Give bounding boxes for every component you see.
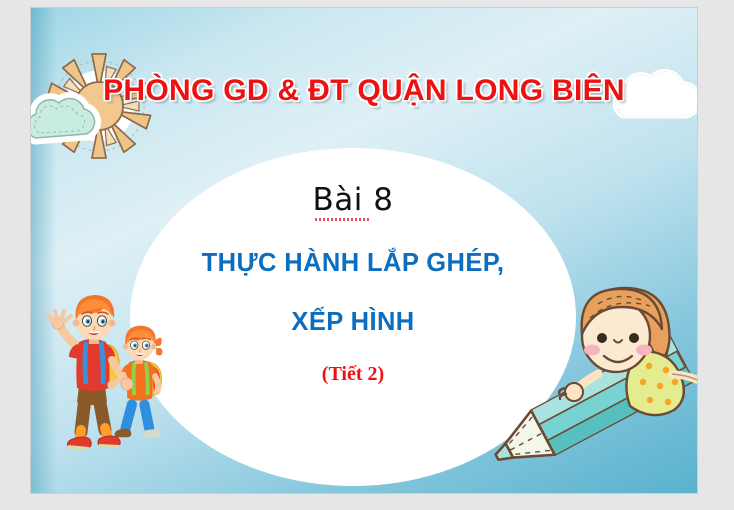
header-title-text: PHÒNG GD & ĐT QUẬN LONG BIÊN — [103, 74, 625, 108]
lesson-number-text: Bài 8 — [313, 182, 394, 218]
school-header: PHÒNG GD & ĐT QUẬN LONG BIÊN — [31, 74, 697, 108]
lesson-title-line-2: XẾP HÌNH — [130, 310, 576, 336]
title-block: Bài 8 THỰC HÀNH LẮP GHÉP, XẾP HÌNH (Tiết… — [130, 168, 576, 386]
lesson-session-subtitle: (Tiết 2) — [130, 363, 576, 386]
presentation-slide: PHÒNG GD & ĐT QUẬN LONG BIÊN Bài 8 THỰC … — [31, 8, 697, 493]
boy-figure — [48, 295, 126, 450]
screenshot-root: PHÒNG GD & ĐT QUẬN LONG BIÊN Bài 8 THỰC … — [0, 0, 734, 510]
lesson-number: Bài 8 — [130, 182, 576, 218]
lesson-title-line-1: THỰC HÀNH LẮP GHÉP, — [130, 251, 576, 277]
